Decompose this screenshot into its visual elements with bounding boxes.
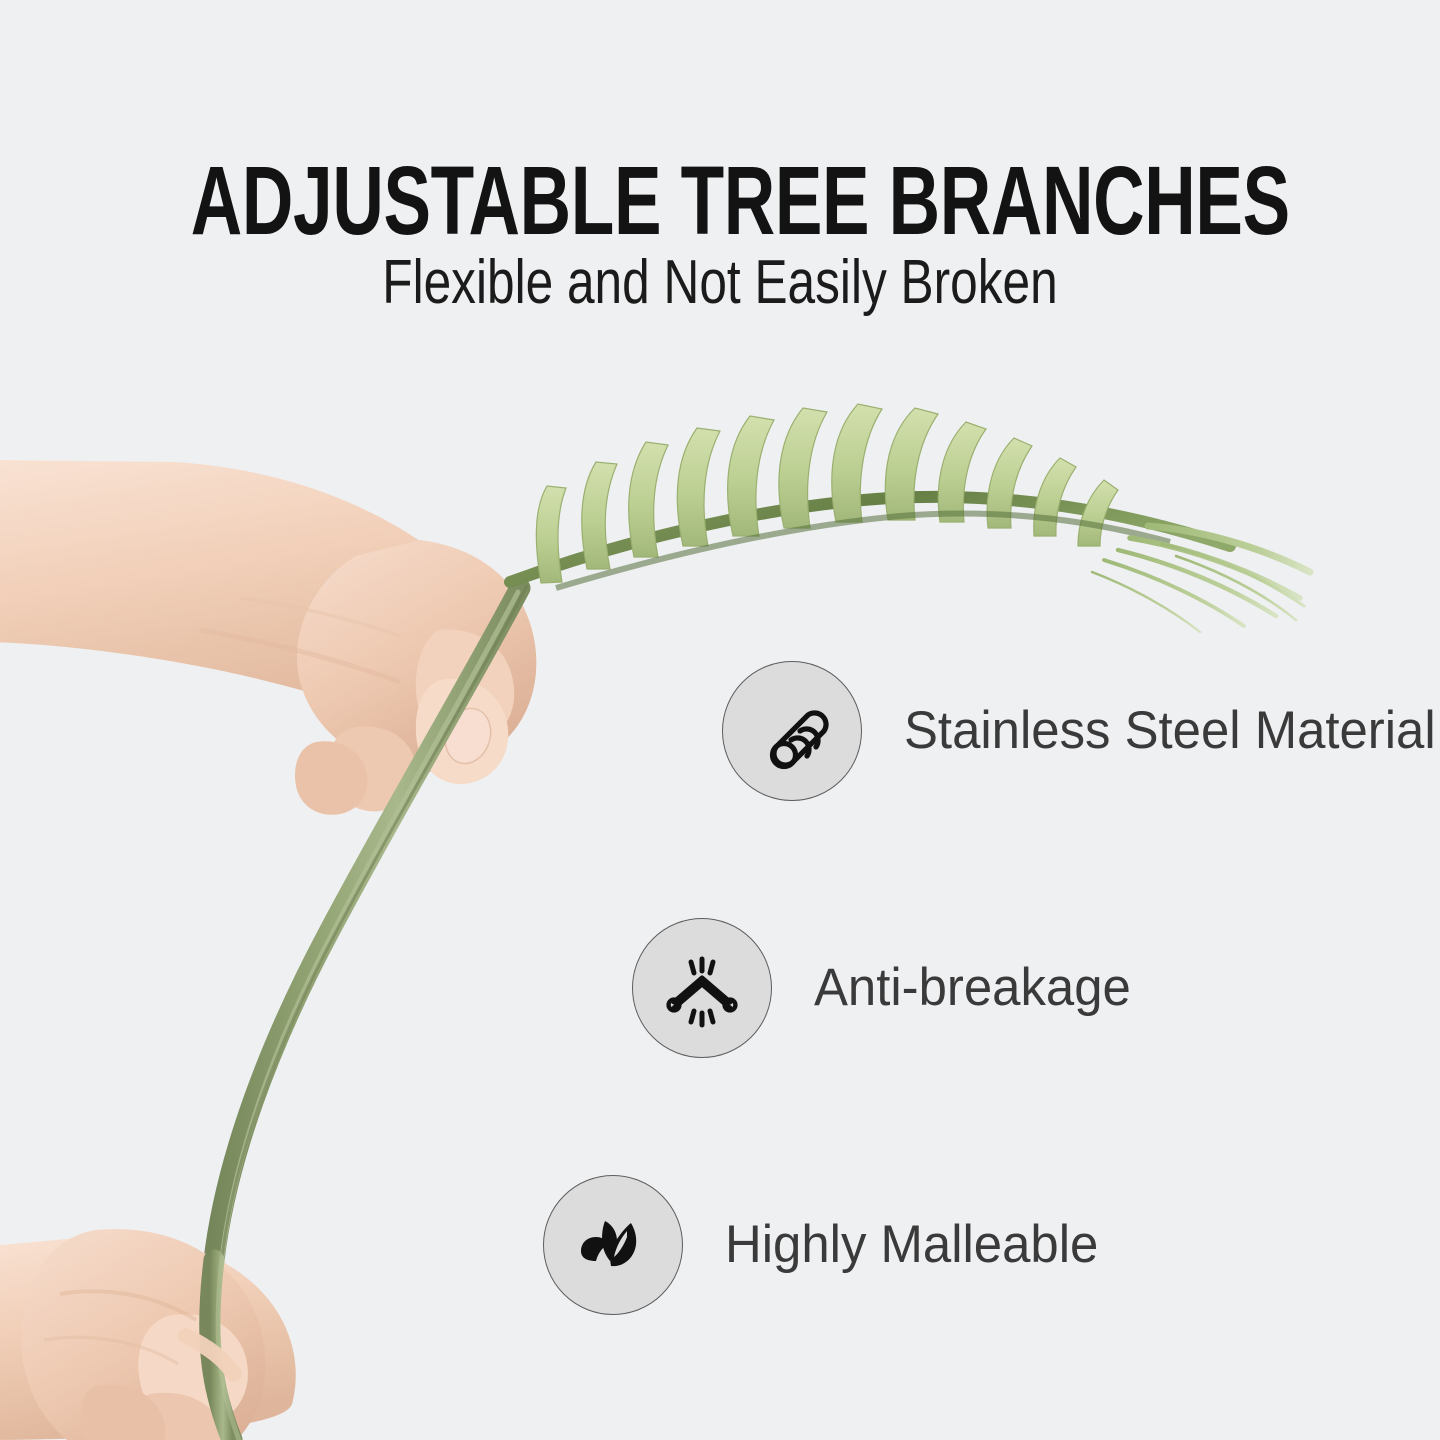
upper-hand-gripping-branch [0,460,536,815]
feature-label: Anti-breakage [814,959,1131,1017]
feature-label: Stainless Steel Material [904,702,1436,760]
metal-rod-icon [752,691,832,771]
feature-item-anti-breakage[interactable]: Anti-breakage [632,918,1144,1058]
feature-icon-circle [543,1175,683,1315]
leaves-icon [575,1207,651,1283]
feature-item-stainless-steel[interactable]: Stainless Steel Material [722,661,1440,801]
feature-icon-circle [632,918,772,1058]
bent-rod-impact-icon [660,946,744,1030]
feature-label: Highly Malleable [725,1216,1098,1274]
page-subtitle: Flexible and Not Easily Broken [144,252,1296,314]
lower-hand-gripping-branch [0,1229,296,1440]
frond-leaflet-group [536,404,1118,583]
feature-item-highly-malleable[interactable]: Highly Malleable [543,1175,1114,1315]
feature-icon-circle [722,661,862,801]
page-title: ADJUSTABLE TREE BRANCHES [191,152,1249,249]
palm-frond-leaflets [510,404,1310,632]
infographic-canvas: ADJUSTABLE TREE BRANCHES Flexible and No… [0,0,1440,1440]
